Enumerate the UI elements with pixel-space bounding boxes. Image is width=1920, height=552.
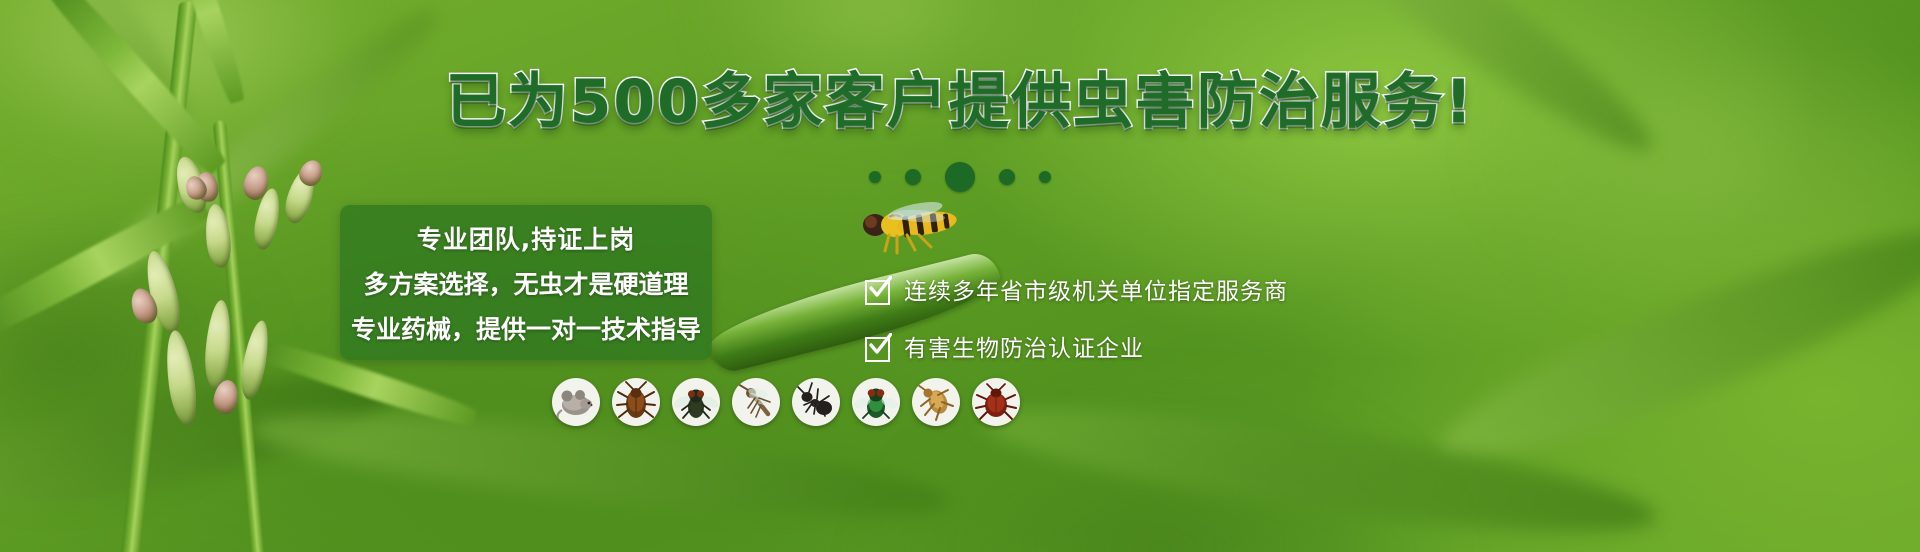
housefly-icon[interactable] [672,378,720,426]
credential-item: 有害生物防治认证企业 [865,329,1288,363]
checkbox-checked-icon [865,334,890,359]
selling-points-panel [340,205,712,360]
dot [999,169,1015,185]
credential-item: 连续多年省市级机关单位指定服务商 [865,272,1288,306]
dot [1039,171,1051,183]
decorative-dots [0,162,1920,192]
pest-control-banner: 已为500多家客户提供虫害防治服务! 专业团队,持证上岗 多方案选择，无虫才是硬… [0,0,1920,552]
hoverfly-icon [845,195,965,265]
credential-label: 有害生物防治认证企业 [904,329,1144,363]
blowfly-icon[interactable] [852,378,900,426]
bedbug-icon[interactable] [972,378,1020,426]
page-title-text: 已为500多家客户提供虫害防治服务! [446,67,1475,137]
credential-label: 连续多年省市级机关单位指定服务商 [904,272,1288,306]
mouse-icon[interactable] [552,378,600,426]
pest-icon-list [552,378,1020,426]
ant-icon[interactable] [792,378,840,426]
dot [945,162,975,192]
dot [905,169,921,185]
mosquito-icon[interactable] [732,378,780,426]
dot [869,171,881,183]
cockroach-icon[interactable] [612,378,660,426]
flea-icon[interactable] [912,378,960,426]
credentials-list: 连续多年省市级机关单位指定服务商 有害生物防治认证企业 [865,272,1288,363]
page-title: 已为500多家客户提供虫害防治服务! [0,72,1920,132]
checkbox-checked-icon [865,277,890,302]
